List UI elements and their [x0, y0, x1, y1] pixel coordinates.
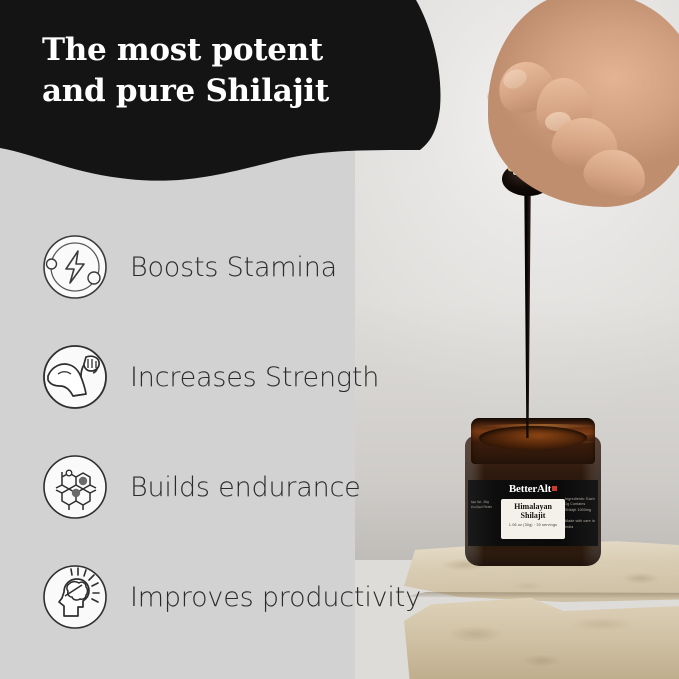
ingredients-text: Ingredients: Each 1g Contains Shilajit 1…	[565, 497, 595, 513]
product-name-line-2: Shilajit	[501, 511, 565, 520]
jar-resin-surface	[479, 426, 587, 450]
jar-product-sublabel: Himalayan Shilajit 1.06 oz (30g) · 30 se…	[501, 499, 565, 539]
stone-pedestal-bottom-texture	[404, 596, 679, 679]
jar-label-ingredients: Ingredients: Each 1g Contains Shilajit 1…	[565, 497, 595, 530]
net-quantity: 1.06 oz (30g) · 30 servings	[501, 523, 565, 528]
benefit-item-improves-productivity: Improves productivity	[0, 542, 440, 652]
head-idea-icon	[42, 564, 108, 630]
product-name-line-1: Himalayan	[501, 502, 565, 511]
brand-accent-dot	[552, 486, 557, 491]
brand-name: BetterAlt	[468, 483, 598, 495]
flexed-bicep-icon	[42, 344, 108, 410]
benefit-item-boosts-stamina: Boosts Stamina	[0, 212, 440, 322]
jar-label: BetterAlt Net Wt. 30g Purified Resin Him…	[468, 480, 598, 546]
benefit-item-increases-strength: Increases Strength	[0, 322, 440, 432]
title-line-2: and pure Shilajit	[42, 71, 412, 112]
benefit-label: Builds endurance	[130, 472, 361, 503]
jar-label-side-text: Net Wt. 30g Purified Resin	[471, 500, 497, 511]
molecule-hexagon-icon	[42, 454, 108, 520]
lightning-bolt-icon	[42, 234, 108, 300]
benefits-list: Boosts Stamina Increases Strength	[0, 212, 440, 652]
benefit-label: Boosts Stamina	[130, 252, 337, 283]
origin-text: Made with care in India	[565, 519, 595, 530]
shilajit-jar: BetterAlt Net Wt. 30g Purified Resin Him…	[465, 418, 601, 566]
benefit-item-builds-endurance: Builds endurance	[0, 432, 440, 542]
page-title: The most potent and pure Shilajit	[42, 30, 412, 112]
benefit-label: Increases Strength	[130, 362, 379, 393]
benefit-label: Improves productivity	[130, 582, 421, 613]
product-marketing-poster: BetterAlt Net Wt. 30g Purified Resin Him…	[0, 0, 679, 679]
title-line-1: The most potent	[42, 30, 412, 71]
